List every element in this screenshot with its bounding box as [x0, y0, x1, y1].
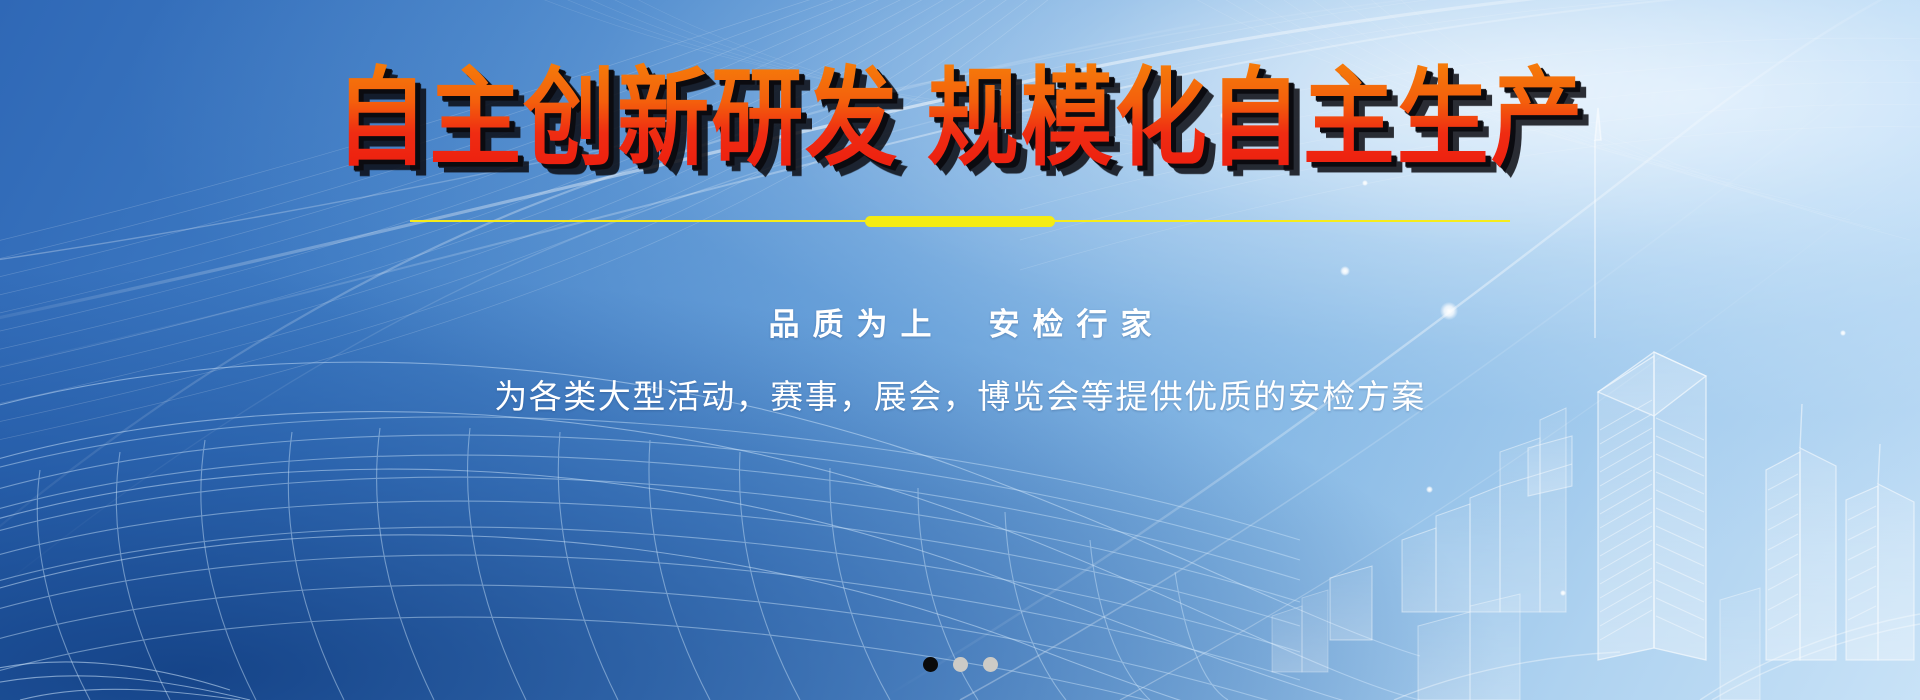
banner-headline: 自主创新研发 规模化自主生产: [335, 62, 1585, 177]
banner-tagline: 品质为上 安检行家: [756, 299, 1165, 344]
carousel-dot-3[interactable]: [983, 657, 998, 672]
carousel-dot-2[interactable]: [953, 657, 968, 672]
carousel-dots: [0, 657, 1920, 672]
banner-subline: 为各类大型活动，赛事，展会，博览会等提供优质的安检方案: [494, 370, 1426, 418]
carousel-dot-1[interactable]: [923, 657, 938, 672]
banner-content: 自主创新研发 规模化自主生产 品质为上 安检行家 为各类大型活动，赛事，展会，博…: [0, 0, 1920, 700]
divider-center-nub: [865, 216, 1055, 227]
title-divider: [410, 213, 1510, 229]
hero-banner: 自主创新研发 规模化自主生产 品质为上 安检行家 为各类大型活动，赛事，展会，博…: [0, 0, 1920, 700]
